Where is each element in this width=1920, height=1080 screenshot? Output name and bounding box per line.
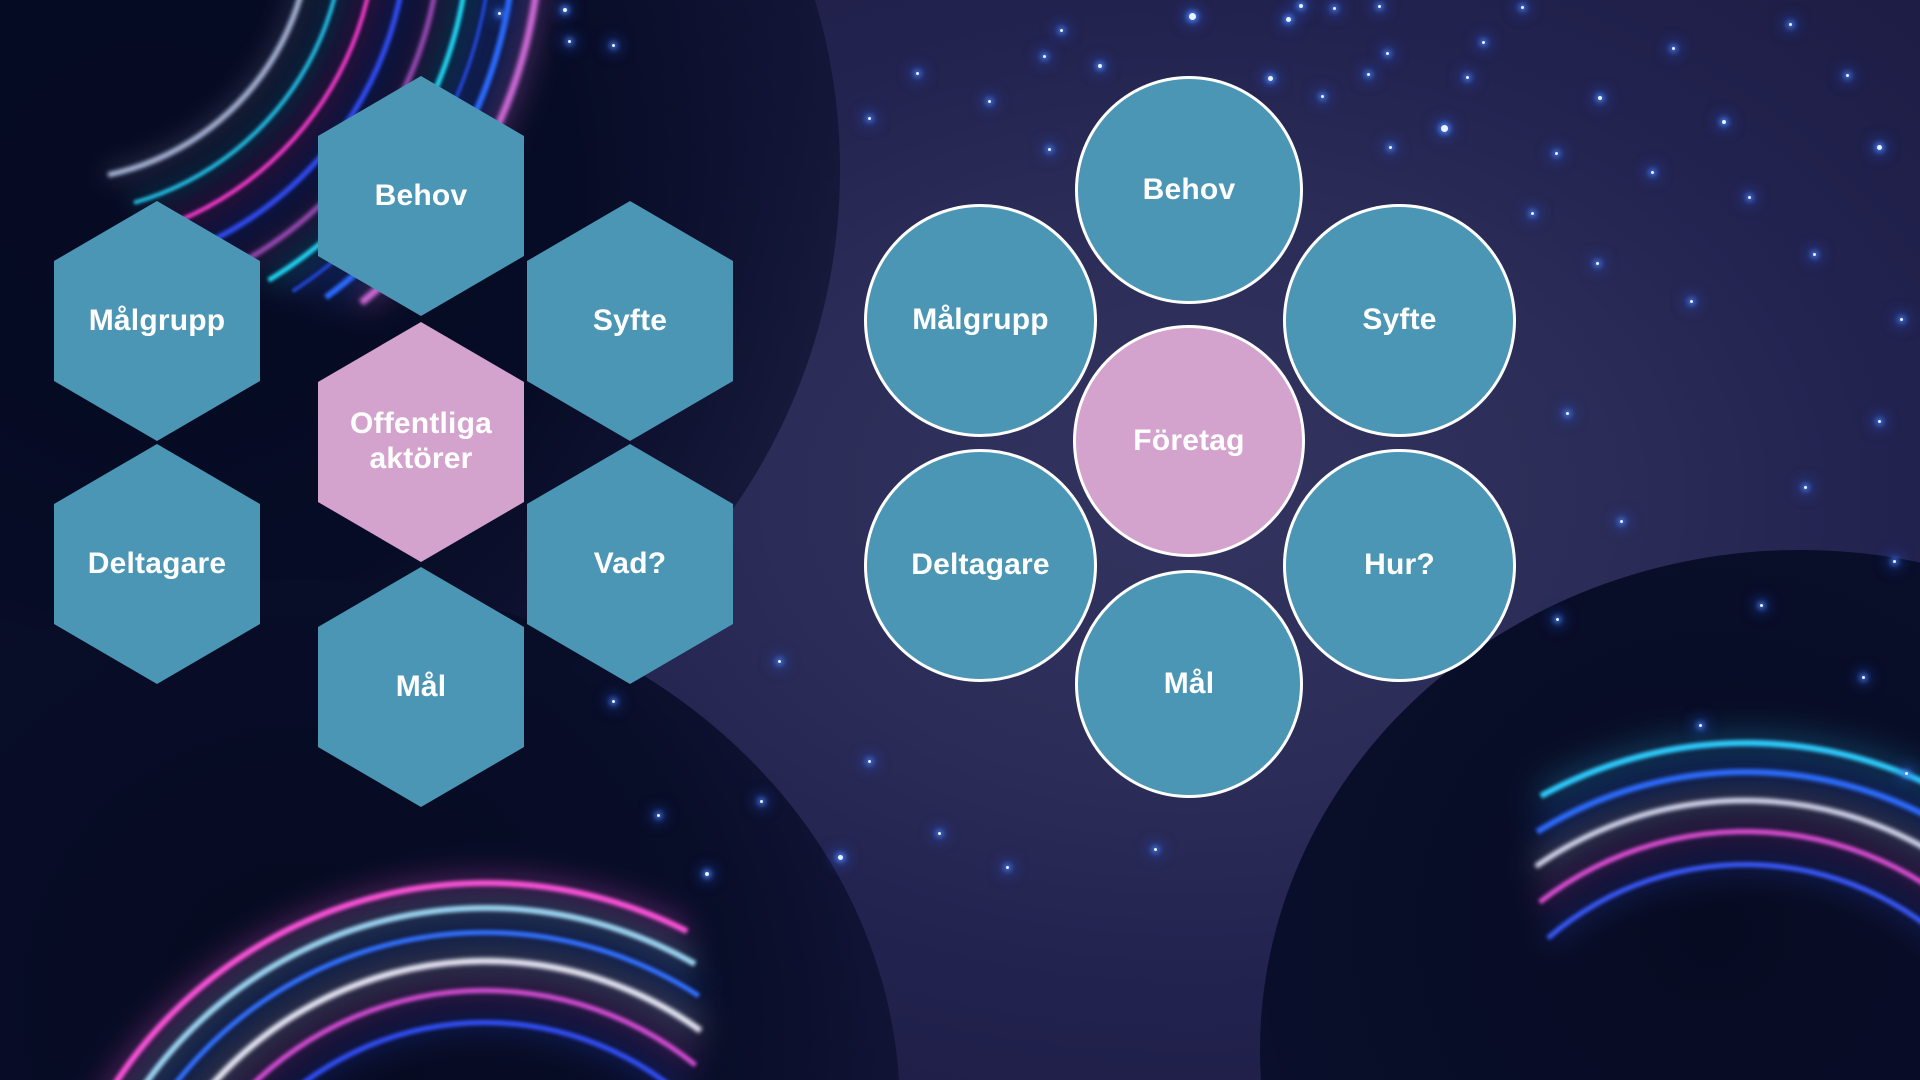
hex-cell-syfte[interactable]: Syfte <box>527 201 733 441</box>
hex-label-syfte: Syfte <box>583 304 677 339</box>
hexagon-honeycomb-diagram: Behov Målgrupp Syfte Offentliga aktörer … <box>0 0 800 1080</box>
circle-label-malgrupp: Målgrupp <box>912 303 1049 338</box>
hex-label-line-2: aktörer <box>369 442 472 475</box>
hex-cell-malgrupp[interactable]: Målgrupp <box>54 201 260 441</box>
hex-cell-center-offentliga-aktorer[interactable]: Offentliga aktörer <box>318 322 524 562</box>
circle-label-hur: Hur? <box>1364 548 1435 583</box>
hex-label-offentliga-aktorer: Offentliga aktörer <box>340 407 502 477</box>
circle-cluster-diagram: Behov Målgrupp Syfte Företag Deltagare H… <box>820 0 1920 1080</box>
circle-deltagare[interactable]: Deltagare <box>864 449 1097 682</box>
hex-label-malgrupp: Målgrupp <box>79 304 236 339</box>
hex-label-mal: Mål <box>386 670 457 705</box>
slide-canvas: Behov Målgrupp Syfte Offentliga aktörer … <box>0 0 1920 1080</box>
circle-label-mal: Mål <box>1164 667 1215 702</box>
hex-label-behov: Behov <box>365 179 478 214</box>
hex-cell-behov[interactable]: Behov <box>318 76 524 316</box>
hex-label-deltagare: Deltagare <box>78 547 237 582</box>
circle-label-behov: Behov <box>1143 173 1236 208</box>
hex-label-vad: Vad? <box>584 547 677 582</box>
circle-hur[interactable]: Hur? <box>1283 449 1516 682</box>
hex-label-line-1: Offentliga <box>350 407 492 440</box>
circle-mal[interactable]: Mål <box>1075 570 1303 798</box>
hex-cell-mal[interactable]: Mål <box>318 567 524 807</box>
circle-behov[interactable]: Behov <box>1075 76 1303 304</box>
circle-label-syfte: Syfte <box>1362 303 1436 338</box>
circle-label-foretag: Företag <box>1133 424 1244 459</box>
circle-syfte[interactable]: Syfte <box>1283 204 1516 437</box>
circle-label-deltagare: Deltagare <box>911 548 1050 583</box>
hex-cell-deltagare[interactable]: Deltagare <box>54 444 260 684</box>
circle-malgrupp[interactable]: Målgrupp <box>864 204 1097 437</box>
hex-cell-vad[interactable]: Vad? <box>527 444 733 684</box>
circle-center-foretag[interactable]: Företag <box>1073 325 1305 557</box>
